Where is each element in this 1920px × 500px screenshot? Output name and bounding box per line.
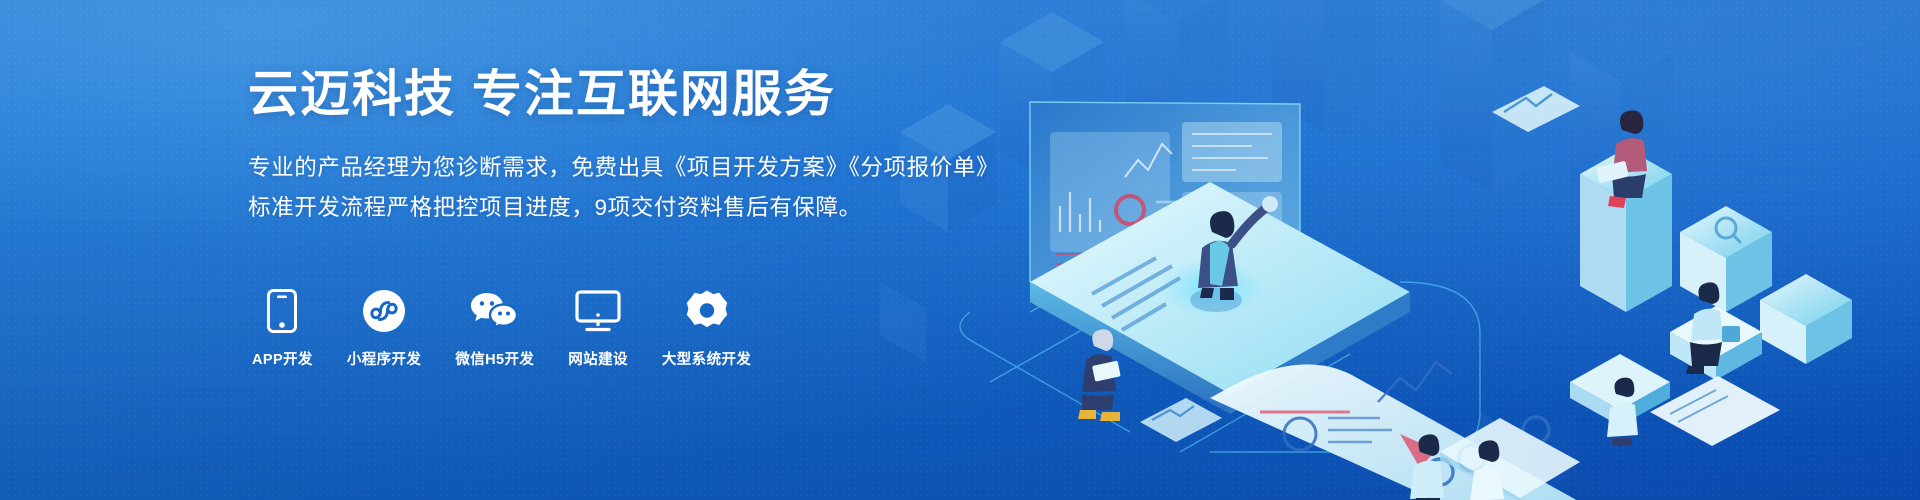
service-label-app: APP开发 — [252, 348, 313, 369]
monitor-icon — [575, 288, 621, 334]
service-item-wechat-h5[interactable]: 微信H5开发 — [455, 288, 534, 369]
banner-subtitle-line-2: 标准开发流程严格把控项目进度，9项交付资料售后有保障。 — [248, 188, 1008, 228]
service-label-mini-program: 小程序开发 — [347, 348, 422, 369]
service-item-large-system[interactable]: 大型系统开发 — [662, 288, 751, 369]
service-label-large-system: 大型系统开发 — [662, 348, 751, 369]
banner-copy: 云迈科技 专注互联网服务 专业的产品经理为您诊断需求，免费出具《项目开发方案》《… — [248, 66, 1008, 228]
hero-banner: 云迈科技 专注互联网服务 专业的产品经理为您诊断需求，免费出具《项目开发方案》《… — [0, 0, 1920, 500]
wechat-icon — [469, 288, 521, 334]
service-item-mini-program[interactable]: 小程序开发 — [347, 288, 422, 369]
mobile-phone-icon — [267, 288, 297, 334]
service-item-app[interactable]: APP开发 — [252, 288, 313, 369]
banner-subtitle-line-1: 专业的产品经理为您诊断需求，免费出具《项目开发方案》《分项报价单》 — [248, 148, 1008, 188]
service-item-website[interactable]: 网站建设 — [568, 288, 628, 369]
service-label-website: 网站建设 — [568, 348, 628, 369]
isometric-illustration — [880, 0, 1920, 500]
mini-program-icon — [362, 288, 406, 334]
banner-subtitle: 专业的产品经理为您诊断需求，免费出具《项目开发方案》《分项报价单》 标准开发流程… — [248, 148, 1008, 228]
gear-icon — [685, 288, 729, 334]
banner-title: 云迈科技 专注互联网服务 — [248, 66, 1008, 122]
service-label-wechat-h5: 微信H5开发 — [455, 348, 534, 369]
service-list: APP开发 小程序开发 — [252, 288, 751, 369]
